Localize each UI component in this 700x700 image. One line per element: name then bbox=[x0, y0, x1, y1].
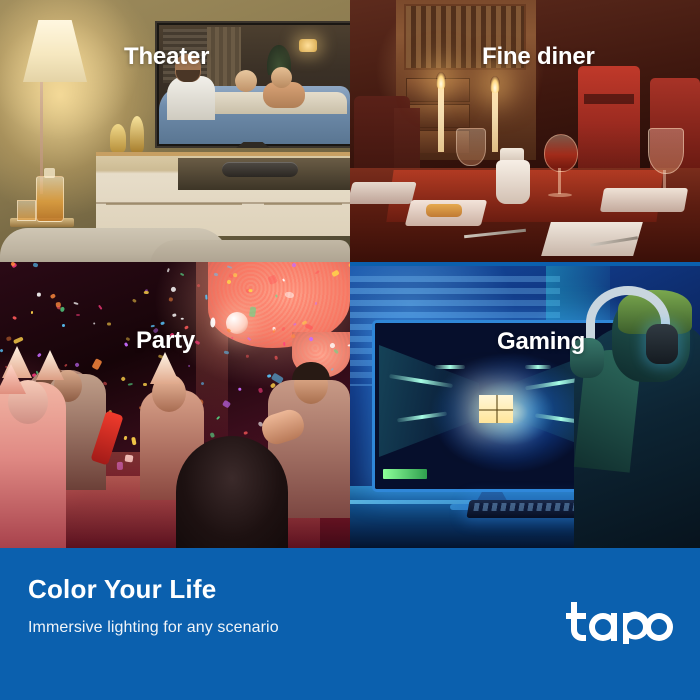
sofa-foreground-right bbox=[150, 240, 350, 262]
scene-label-party: Party bbox=[136, 327, 195, 355]
headset-earcup-icon bbox=[646, 324, 678, 364]
wine-glass-stem bbox=[558, 168, 561, 194]
dinner-plate-right bbox=[600, 188, 688, 212]
scene-label-fine-diner: Fine diner bbox=[482, 43, 595, 71]
fine-diner-photo bbox=[350, 0, 700, 262]
candle-flame-left bbox=[436, 72, 446, 89]
candle-flame-right bbox=[490, 76, 500, 93]
scene-tile-gaming[interactable]: Gaming bbox=[350, 266, 700, 548]
gaming-photo bbox=[350, 266, 700, 548]
soundbar-icon bbox=[222, 162, 298, 177]
candle-right bbox=[492, 90, 498, 152]
tv-scene-person-three-head bbox=[271, 67, 292, 88]
scene-label-theater: Theater bbox=[124, 43, 209, 71]
tv-scene-person-one-torso bbox=[167, 76, 215, 120]
scene-tile-party[interactable]: Party bbox=[0, 262, 350, 548]
scene-tile-theater[interactable]: Theater bbox=[0, 0, 350, 262]
console-handle-left bbox=[106, 203, 242, 205]
wine-glass-base bbox=[548, 193, 572, 197]
banner-headline: Color Your Life bbox=[28, 574, 216, 605]
gold-ornament-large bbox=[130, 116, 144, 152]
dinner-plate-far bbox=[350, 182, 417, 204]
scene-label-gaming: Gaming bbox=[497, 328, 585, 356]
game-light-strip-4 bbox=[525, 365, 551, 369]
wine-glass-bowl bbox=[544, 134, 578, 172]
foreground-silhouette bbox=[176, 436, 288, 548]
plated-food bbox=[426, 204, 462, 217]
tv-scene-lamp bbox=[299, 39, 317, 52]
banner-subtitle: Immersive lighting for any scenario bbox=[28, 619, 279, 637]
whisky-glass bbox=[17, 200, 36, 221]
tall-wine-glass bbox=[648, 128, 684, 174]
console-handle-right bbox=[264, 203, 342, 205]
theater-photo bbox=[0, 0, 350, 262]
party-photo bbox=[0, 262, 350, 548]
television bbox=[155, 21, 350, 148]
water-glass bbox=[456, 128, 486, 166]
tapo-logo[interactable] bbox=[565, 600, 675, 644]
gold-ornament-small bbox=[110, 124, 126, 152]
game-light-strip-3 bbox=[435, 365, 465, 369]
candle-left bbox=[438, 86, 444, 152]
game-hud-bar bbox=[383, 469, 427, 479]
dining-chair-right bbox=[578, 66, 640, 170]
game-portal-light bbox=[479, 395, 513, 423]
game-tunnel-left bbox=[379, 345, 479, 457]
whisky-decanter bbox=[36, 176, 64, 222]
scene-tile-fine-diner[interactable]: Fine diner bbox=[350, 0, 700, 262]
tv-scene-person-two-head bbox=[235, 70, 257, 92]
ceramic-pitcher bbox=[496, 160, 530, 204]
promo-graphic: Theater bbox=[0, 0, 700, 700]
scene-grid: Theater bbox=[0, 0, 700, 548]
